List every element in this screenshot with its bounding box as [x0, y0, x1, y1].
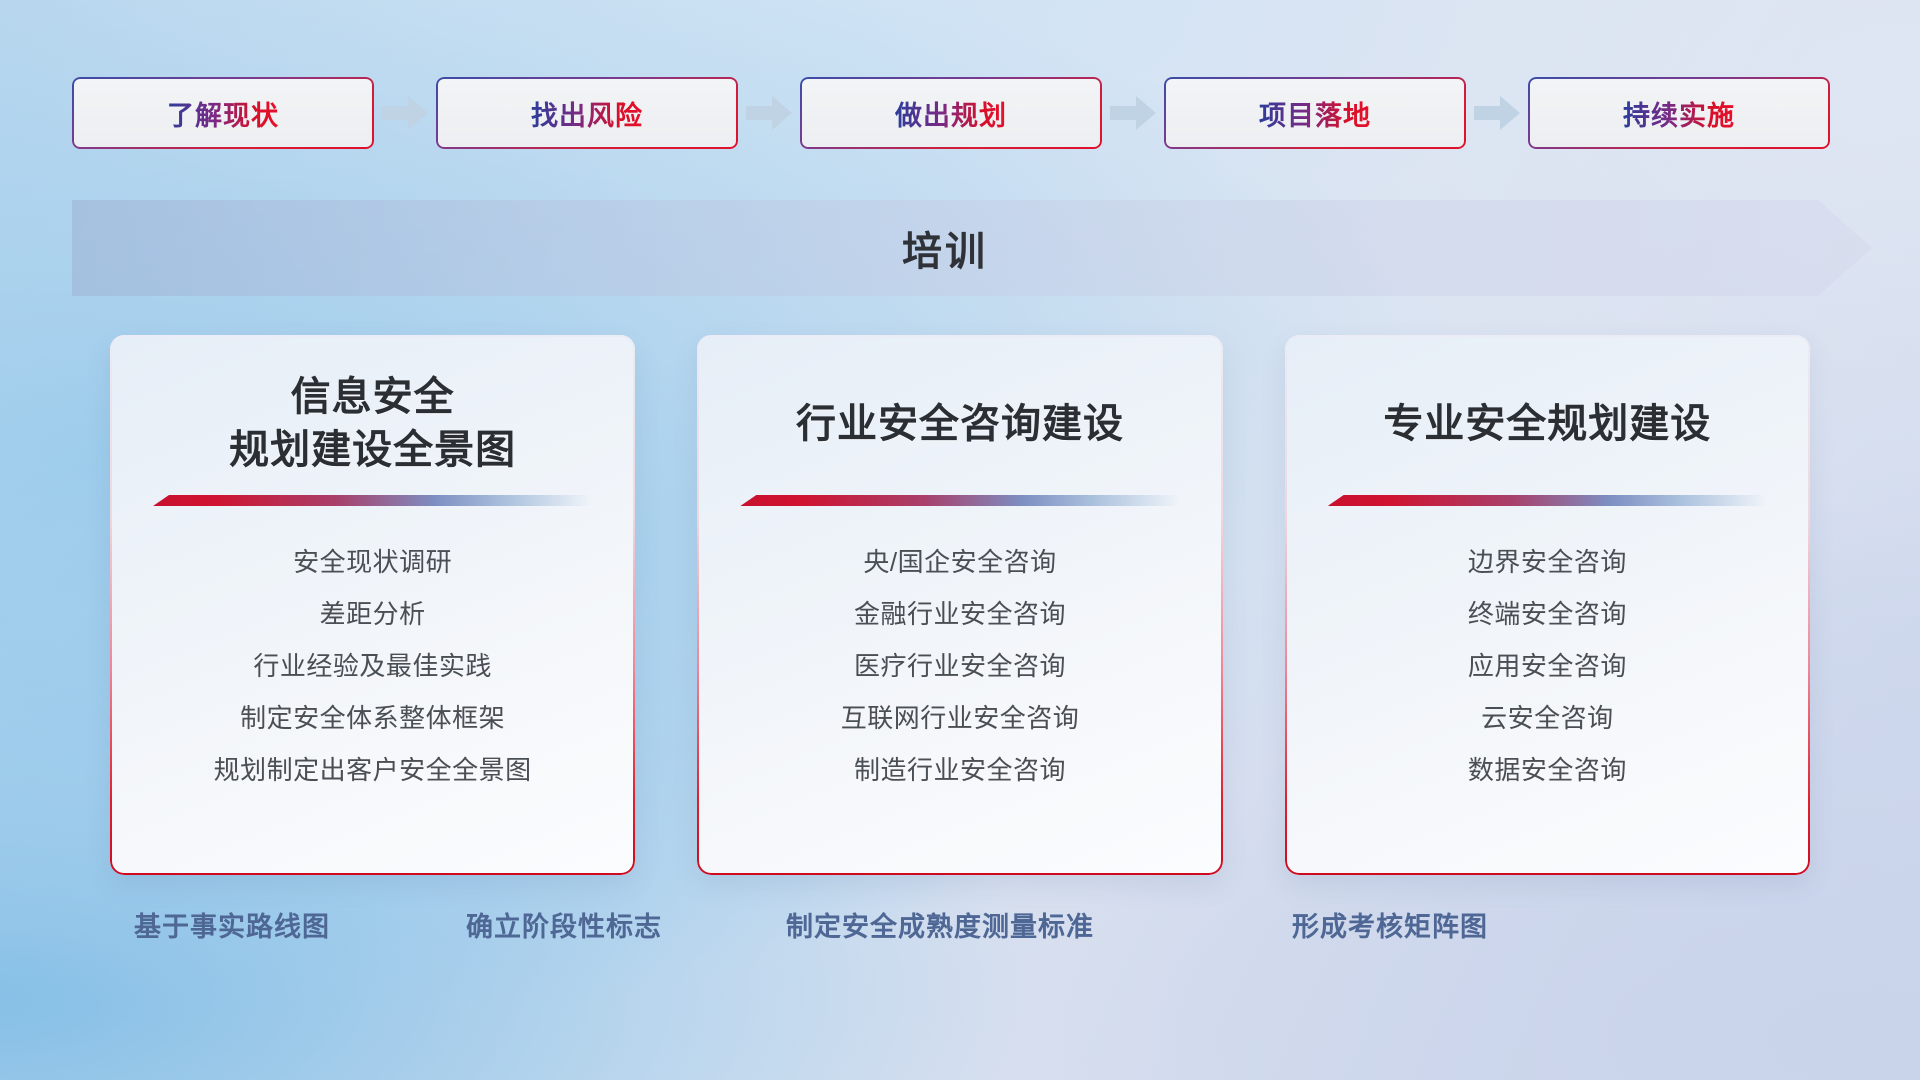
- caption-1: 确立阶段性标志: [466, 905, 662, 944]
- step-wrap-2: 做出规划: [800, 77, 1102, 149]
- card-list-0: 安全现状调研 差距分析 行业经验及最佳实践 制定安全体系整体框架 规划制定出客户…: [140, 536, 605, 796]
- list-item: 制定安全体系整体框架: [140, 692, 605, 744]
- card-0[interactable]: 信息安全 规划建设全景图 安全现状调研 差距分析 行业经验及最佳实践 制定安全体…: [110, 335, 635, 875]
- step-wrap-1: 找出风险: [436, 77, 738, 149]
- list-item: 边界安全咨询: [1315, 536, 1780, 588]
- list-item: 安全现状调研: [140, 536, 605, 588]
- step-wrap-0: 了解现状: [72, 77, 374, 149]
- arrow-right-icon: [1466, 77, 1528, 149]
- card-list-1: 央/国企安全咨询 金融行业安全咨询 医疗行业安全咨询 互联网行业安全咨询 制造行…: [727, 536, 1192, 796]
- card-title-0: 信息安全 规划建设全景图: [229, 371, 516, 477]
- step-button-4[interactable]: 持续实施: [1528, 77, 1830, 149]
- cards-row: 信息安全 规划建设全景图 安全现状调研 差距分析 行业经验及最佳实践 制定安全体…: [110, 335, 1810, 875]
- step-button-1[interactable]: 找出风险: [436, 77, 738, 149]
- list-item: 医疗行业安全咨询: [727, 640, 1192, 692]
- card-divider-2: [1328, 495, 1767, 506]
- step-button-0[interactable]: 了解现状: [72, 77, 374, 149]
- list-item: 行业经验及最佳实践: [140, 640, 605, 692]
- arrow-right-icon: [738, 77, 800, 149]
- card-title-line1: 专业安全规划建设: [1383, 398, 1711, 451]
- step-label-0: 了解现状: [167, 94, 279, 133]
- footer-captions: 基于事实路线图 确立阶段性标志 制定安全成熟度测量标准 形成考核矩阵图: [0, 905, 1920, 965]
- card-title-line2: 规划建设全景图: [229, 424, 516, 477]
- caption-2: 制定安全成熟度测量标准: [786, 905, 1094, 944]
- card-list-2: 边界安全咨询 终端安全咨询 应用安全咨询 云安全咨询 数据安全咨询: [1315, 536, 1780, 796]
- step-button-2[interactable]: 做出规划: [800, 77, 1102, 149]
- step-label-1: 找出风险: [531, 94, 643, 133]
- list-item: 金融行业安全咨询: [727, 588, 1192, 640]
- arrow-right-icon: [374, 77, 436, 149]
- list-item: 制造行业安全咨询: [727, 744, 1192, 796]
- step-label-2: 做出规划: [895, 94, 1007, 133]
- list-item: 规划制定出客户安全全景图: [140, 744, 605, 796]
- list-item: 差距分析: [140, 588, 605, 640]
- step-wrap-3: 项目落地: [1164, 77, 1466, 149]
- slide-canvas: 了解现状 找出风险 做出规划: [0, 0, 1920, 1080]
- caption-3: 形成考核矩阵图: [1292, 905, 1488, 944]
- list-item: 互联网行业安全咨询: [727, 692, 1192, 744]
- caption-0: 基于事实路线图: [134, 905, 330, 944]
- list-item: 数据安全咨询: [1315, 744, 1780, 796]
- card-2[interactable]: 专业安全规划建设 边界安全咨询 终端安全咨询 应用安全咨询 云安全咨询 数据安全…: [1285, 335, 1810, 875]
- step-button-3[interactable]: 项目落地: [1164, 77, 1466, 149]
- step-label-4: 持续实施: [1623, 94, 1735, 133]
- process-steps: 了解现状 找出风险 做出规划: [72, 76, 1848, 150]
- list-item: 云安全咨询: [1315, 692, 1780, 744]
- card-1[interactable]: 行业安全咨询建设 央/国企安全咨询 金融行业安全咨询 医疗行业安全咨询 互联网行…: [697, 335, 1222, 875]
- arrow-right-icon: [1102, 77, 1164, 149]
- list-item: 终端安全咨询: [1315, 588, 1780, 640]
- card-divider-0: [153, 495, 592, 506]
- card-title-1: 行业安全咨询建设: [796, 371, 1124, 477]
- banner-title: 培训: [72, 200, 1818, 296]
- step-label-3: 项目落地: [1259, 94, 1371, 133]
- list-item: 央/国企安全咨询: [727, 536, 1192, 588]
- card-title-line1: 行业安全咨询建设: [796, 398, 1124, 451]
- list-item: 应用安全咨询: [1315, 640, 1780, 692]
- card-title-2: 专业安全规划建设: [1383, 371, 1711, 477]
- training-banner: 培训: [72, 200, 1872, 296]
- card-title-line1: 信息安全: [229, 371, 516, 424]
- step-wrap-4: 持续实施: [1528, 77, 1830, 149]
- card-divider-1: [740, 495, 1179, 506]
